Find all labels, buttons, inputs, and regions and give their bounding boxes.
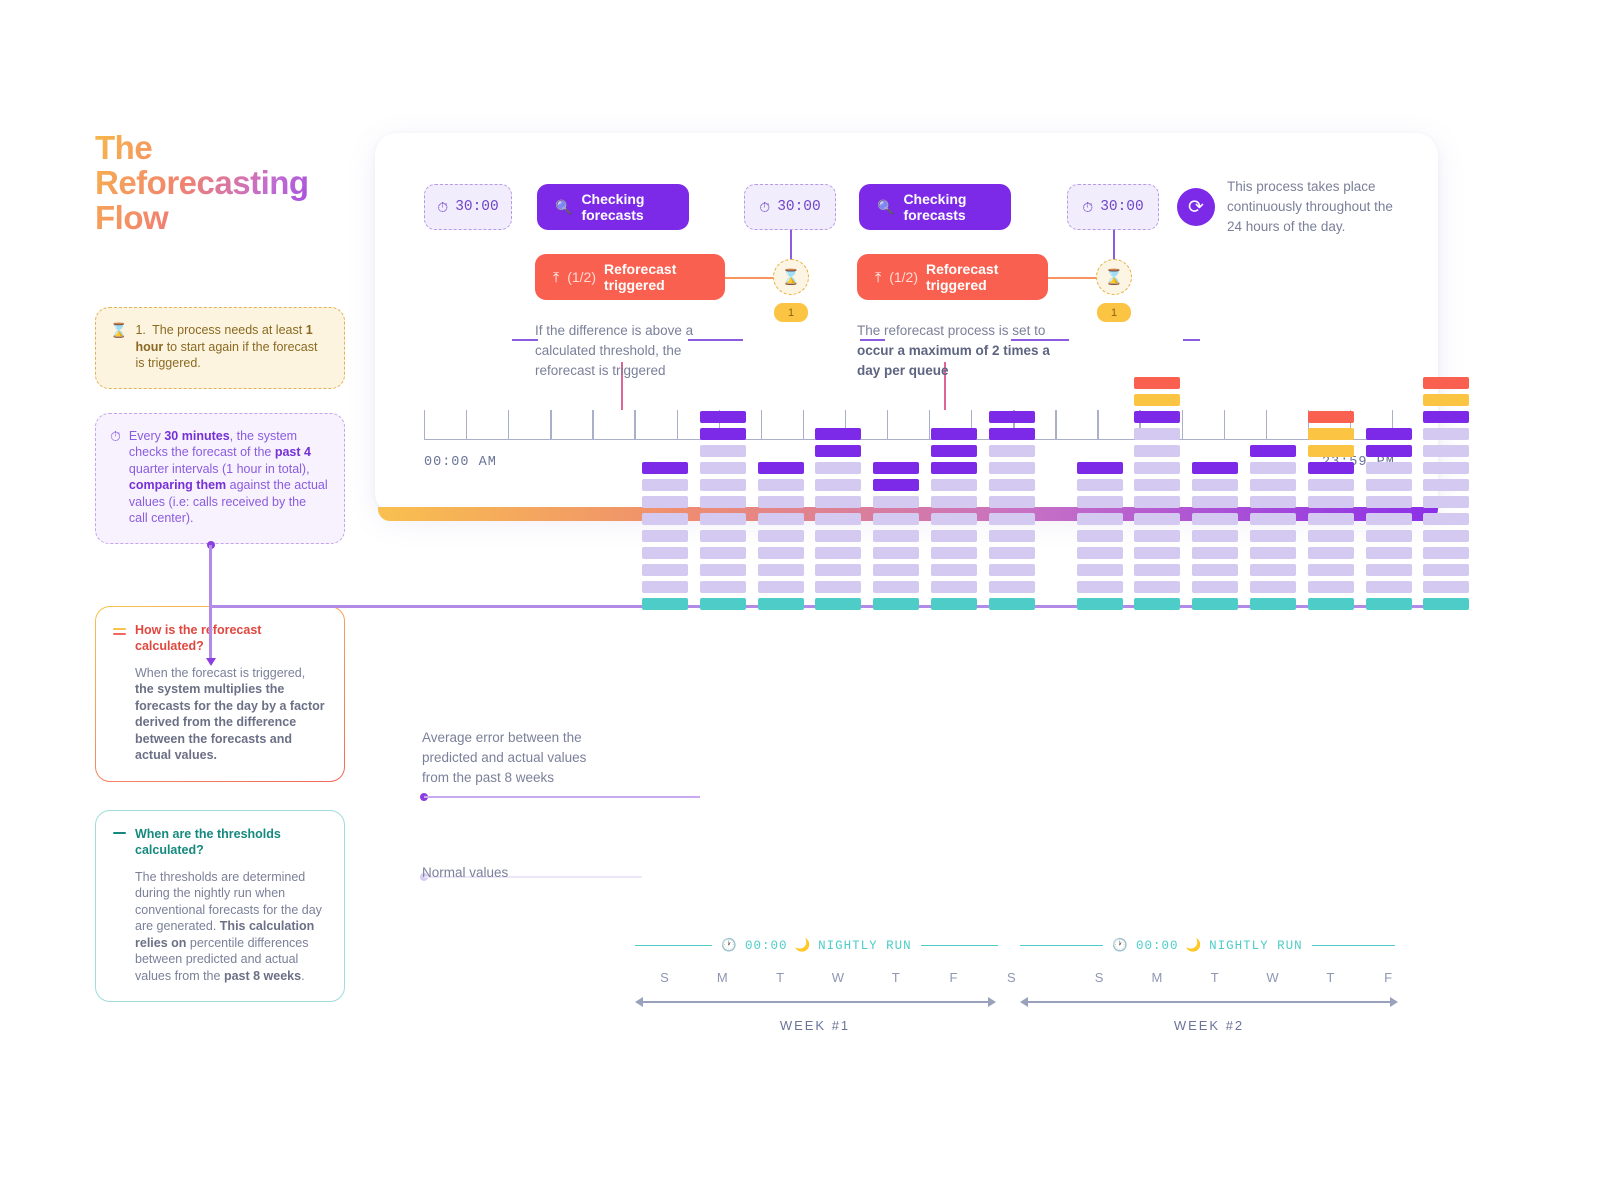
nightly-run-time: 00:00 [1136,939,1179,953]
bar-segment-normal [1077,547,1123,559]
bar-segment-normal [815,462,861,474]
card-heading: How is the reforecast calculated? [113,622,327,654]
left-column: The Reforecasting Flow ⌛ 1. The process … [95,130,345,1002]
edge-timer3-to-refresh [1183,339,1200,341]
bar-segment-normal [1308,479,1354,491]
bar-segment-normal [642,496,688,508]
bar-segment-normal [815,581,861,593]
bar-segment-normal [873,581,919,593]
bar-segment-normal [1192,479,1238,491]
bar-segment-normal [989,564,1035,576]
bar-segment-base [1134,598,1180,610]
stopwatch-icon: ⏱ [1082,199,1093,216]
bar-segment-normal [758,547,804,559]
bar-segment-warn [1423,394,1469,406]
refresh-icon-button[interactable]: ⟳ [1177,188,1215,226]
bar-segment-normal [1366,479,1412,491]
bar-segment-normal [758,479,804,491]
bar-segment-normal [931,530,977,542]
bar-segment-high [815,428,861,440]
bar-segment-normal [989,462,1035,474]
hourglass-icon-2[interactable]: ⌛ [1096,259,1132,295]
bar-segment-normal [700,530,746,542]
q1-p3: . [301,969,304,983]
bar-segment-normal [1308,496,1354,508]
bar-segment-normal [700,462,746,474]
bar-segment-normal [931,513,977,525]
week2-arrow-right [1390,997,1398,1007]
chart-bar[interactable] [1134,372,1180,610]
bar-segment-crit [1308,411,1354,423]
day-label: T [873,970,919,985]
bar-segment-normal [1366,547,1412,559]
bar-segment-normal [700,496,746,508]
bar-segment-normal [1077,581,1123,593]
alert-1-fraction: (1/2) [567,269,596,285]
note-amber-number: 1. [135,323,145,337]
bar-segment-base [873,598,919,610]
node-timer-2[interactable]: ⏱ 30:00 [744,184,836,230]
search-icon: 🔍 [555,199,572,216]
error-chart: Average error between the predicted and … [420,725,1410,1045]
nightly-run-week1: 🕐 00:00 🌙 NIGHTLY RUN [635,938,998,953]
bar-segment-normal [642,513,688,525]
bar-segment-normal [1134,581,1180,593]
nightly-line-left [635,945,712,947]
day-label: M [1134,970,1180,985]
bar-segment-high [1366,428,1412,440]
nv-b2: past 4 [275,445,311,459]
bar-segment-normal [1250,479,1296,491]
bar-segment-warn [1308,445,1354,457]
nv-b3: comparing them [129,478,226,492]
bar-segment-normal [1134,496,1180,508]
bar-segment-high [1366,445,1412,457]
bar-segment-normal [1423,564,1469,576]
day-label: F [931,970,977,985]
bar-segment-normal [1192,513,1238,525]
note-minimum-gap: ⌛ 1. The process needs at least 1 hour t… [95,307,345,389]
bar-segment-normal [1423,445,1469,457]
bar-segment-normal [758,581,804,593]
bar-segment-normal [700,581,746,593]
day-label: W [1250,970,1296,985]
bar-segment-normal [642,547,688,559]
stopwatch-icon: ⏱ [759,199,770,216]
bar-segment-normal [1077,564,1123,576]
day-label: M [700,970,746,985]
bar-segment-base [989,598,1035,610]
bar-segment-high [931,445,977,457]
bar-segment-normal [1308,530,1354,542]
chart-bar[interactable] [1077,457,1123,610]
chart-bar[interactable] [931,423,977,610]
bar-segment-normal [1250,547,1296,559]
hourglass-icon: ⌛ [110,322,127,372]
bar-segment-normal [758,496,804,508]
timer-2-label: 30:00 [777,199,821,215]
bar-segment-normal [1192,547,1238,559]
card-heading-text: How is the reforecast calculated? [135,622,327,654]
week2-axis [1027,1001,1391,1003]
caption2-p1: The reforecast process is set to [857,323,1045,338]
page-title-line2: Reforecasting [95,165,345,200]
ruler-tick [887,410,888,440]
bar-segment-warn [1308,428,1354,440]
week2-arrow-left [1020,997,1028,1007]
node-reforecast-triggered-2[interactable]: ⤒ (1/2) Reforecast triggered [857,254,1048,300]
alert-2-fraction: (1/2) [889,269,918,285]
bar-segment-normal [931,496,977,508]
bar-segment-normal [1308,564,1354,576]
hourglass-badge-2: 1 [1097,303,1131,322]
bar-segment-normal [758,513,804,525]
chart-bar[interactable] [989,406,1035,610]
bar-segment-normal [1250,581,1296,593]
card-body: When the forecast is triggered, the syst… [113,665,327,764]
bar-segment-normal [1250,496,1296,508]
day-label: T [1192,970,1238,985]
day-label: S [989,970,1035,985]
q1-b2: past 8 weeks [224,969,301,983]
bar-segment-normal [700,445,746,457]
note-check-interval: ⏱ Every 30 minutes, the system checks th… [95,413,345,544]
bar-segment-high [989,428,1035,440]
bar-segment-warn [1134,394,1180,406]
bar-segment-normal [1077,479,1123,491]
chart-bar[interactable] [642,457,688,610]
card-when-are-thresholds-calculated: When are the thresholds calculated? The … [95,810,345,1003]
flow-side-note: This process takes place continuously th… [1227,177,1405,237]
bar-segment-normal [642,479,688,491]
bar-segment-normal [1192,564,1238,576]
caption2-b1: occur a maximum of 2 times a day per que… [857,343,1050,378]
chart-bar[interactable] [873,457,919,610]
bar-segment-base [1423,598,1469,610]
timer-1-label: 30:00 [455,199,499,215]
bar-segment-normal [931,564,977,576]
bar-segment-high [873,462,919,474]
bar-segment-normal [989,479,1035,491]
week1-axis [642,1001,989,1003]
nightly-run-content: 🕐 00:00 🌙 NIGHTLY RUN [1112,938,1302,953]
nv-p1: Every [129,429,164,443]
bar-segment-high [1077,462,1123,474]
bar-segment-normal [1250,513,1296,525]
timer-3-label: 30:00 [1100,199,1144,215]
chart-bar[interactable] [1423,372,1469,610]
chart-bar[interactable] [815,423,861,610]
nightly-run-label: NIGHTLY RUN [1209,939,1303,953]
nightly-run-week2: 🕐 00:00 🌙 NIGHTLY RUN [1020,938,1395,953]
bar-segment-crit [1423,377,1469,389]
hourglass-badge-1: 1 [774,303,808,322]
legend-high-leader-line [424,796,700,798]
chart-bar[interactable] [1250,440,1296,610]
bar-segment-normal [1250,462,1296,474]
bar-segment-normal [700,513,746,525]
nv-b1: 30 minutes [164,429,229,443]
q0-p1: When the forecast is triggered, [135,666,305,680]
bar-segment-normal [1423,530,1469,542]
q0-b1: the system multiplies the forecasts for … [135,682,325,762]
ruler-tick [466,410,467,440]
week1-label: WEEK #1 [730,1018,900,1033]
page-title-line1: The [95,130,345,165]
bar-segment-high [700,428,746,440]
card-body: The thresholds are determined during the… [113,869,327,985]
bar-segment-high [642,462,688,474]
bar-segment-base [642,598,688,610]
card-heading-text: When are the thresholds calculated? [135,826,327,858]
flow-caption-threshold: If the difference is above a calculated … [535,321,735,381]
bar-segment-normal [700,479,746,491]
bar-segment-normal [1423,513,1469,525]
bar-segment-normal [815,564,861,576]
ruler-tick [803,410,804,440]
bar-segment-high [815,445,861,457]
page-title-line3: Flow [95,200,345,235]
bar-segment-normal [1366,513,1412,525]
bar-segment-base [1077,598,1123,610]
bar-segment-high [700,411,746,423]
bar-segment-normal [815,496,861,508]
process-2-label: Checking forecasts [903,191,993,223]
node-timer-1[interactable]: ⏱ 30:00 [424,184,512,230]
hourglass-icon-1[interactable]: ⌛ [773,259,809,295]
ruler-tick [592,410,593,440]
bar-segment-high [758,462,804,474]
bar-segment-high [931,428,977,440]
bar-segment-normal [989,581,1035,593]
note-amber-after: to start again if the forecast is trigge… [135,340,317,371]
chart-bar[interactable] [1308,406,1354,610]
search-icon: 🔍 [877,199,894,216]
ruler-baseline [424,439,1392,440]
node-checking-forecasts-1[interactable]: 🔍 Checking forecasts [537,184,689,230]
bar-segment-normal [1366,496,1412,508]
bar-segment-normal [931,547,977,559]
bar-segment-normal [1192,496,1238,508]
bar-segment-normal [1250,530,1296,542]
bar-segment-high [1423,411,1469,423]
day-label: S [1077,970,1123,985]
bar-segment-normal [1308,513,1354,525]
nightly-run-label: NIGHTLY RUN [818,939,912,953]
bar-segment-base [1192,598,1238,610]
nightly-run-time: 00:00 [745,939,788,953]
bar-segment-normal [700,547,746,559]
ruler-tick [1055,410,1056,440]
ruler-tick [1224,410,1225,440]
ruler-tick [1097,410,1098,440]
moon-icon: 🌙 [795,938,812,953]
bar-segment-normal [1366,462,1412,474]
bar-segment-base [815,598,861,610]
day-label: S [642,970,688,985]
bar-segment-base [1366,598,1412,610]
bar-segment-normal [1366,581,1412,593]
bar-segment-normal [758,530,804,542]
bar-segment-normal [931,479,977,491]
connector-arrow-down [206,658,216,666]
alert-1-label: Reforecast triggered [604,261,707,293]
timeline-ruler [424,408,1392,440]
bar-segment-normal [1192,581,1238,593]
bar-segment-normal [1423,581,1469,593]
bar-segment-normal [873,496,919,508]
nightly-line-right [921,945,998,947]
note-amber-text: 1. The process needs at least 1 hour to … [135,322,328,372]
legend-normal-label: Normal values [422,863,622,883]
bar-segment-normal [1423,428,1469,440]
bar-segment-base [758,598,804,610]
chevrons-up-icon: ⤒ [875,269,881,286]
clock-icon: 🕐 [721,938,738,953]
card-how-is-reforecast-calculated: How is the reforecast calculated? When t… [95,606,345,782]
bar-segment-normal [642,564,688,576]
ruler-tick [424,410,425,440]
bar-segment-normal [1308,581,1354,593]
bar-segment-normal [989,530,1035,542]
stopwatch-icon: ⏱ [437,199,448,216]
bar-segment-normal [873,513,919,525]
chart-bar[interactable] [1192,457,1238,610]
bar-segment-normal [1077,530,1123,542]
bar-segment-base [700,598,746,610]
bar-segment-normal [1423,547,1469,559]
bar-segment-high [989,411,1035,423]
bar-segment-normal [931,581,977,593]
node-timer-3[interactable]: ⏱ 30:00 [1067,184,1159,230]
ruler-tick [677,410,678,440]
bar-segment-normal [700,564,746,576]
bar-segment-normal [815,530,861,542]
bar-segment-normal [1134,564,1180,576]
page-title: The Reforecasting Flow [95,130,345,235]
node-reforecast-triggered-1[interactable]: ⤒ (1/2) Reforecast triggered [535,254,725,300]
day-label: T [758,970,804,985]
bar-segment-normal [1308,547,1354,559]
flow-caption-max-per-day: The reforecast process is set to occur a… [857,321,1053,381]
ruler-tick [634,410,635,440]
week2-label: WEEK #2 [1124,1018,1294,1033]
bar-segment-high [1308,462,1354,474]
bar-segment-normal [1423,462,1469,474]
alert-2-label: Reforecast triggered [926,261,1030,293]
bar-segment-normal [989,496,1035,508]
note-amber-before: The process needs at least [152,323,306,337]
bar-segment-normal [1077,513,1123,525]
bar-segment-base [1308,598,1354,610]
double-dash-icon [113,622,126,654]
bar-segment-normal [815,479,861,491]
bar-segment-normal [642,581,688,593]
bar-segment-normal [642,530,688,542]
bar-segment-normal [1192,530,1238,542]
bar-segment-high [873,479,919,491]
bar-segment-normal [1250,564,1296,576]
node-checking-forecasts-2[interactable]: 🔍 Checking forecasts [859,184,1011,230]
nightly-line-left [1020,945,1103,947]
card-heading: When are the thresholds calculated? [113,826,327,858]
bar-segment-normal [815,547,861,559]
bar-segment-normal [1077,496,1123,508]
bar-segment-normal [989,445,1035,457]
ruler-tick [761,410,762,440]
connector-vertical [209,545,212,660]
bar-segment-normal [1134,445,1180,457]
chart-bar[interactable] [700,406,746,610]
bar-segment-normal [873,547,919,559]
day-label: F [1366,970,1412,985]
bar-segment-normal [873,564,919,576]
ruler-tick [550,410,551,440]
ruler-tick [1182,410,1183,440]
note-violet-text: Every 30 minutes, the system checks the … [129,428,328,527]
ruler-tick [508,410,509,440]
ruler-start-label: 00:00 AM [424,455,497,470]
bar-segment-normal [758,564,804,576]
bar-segment-high [931,462,977,474]
bar-segment-base [931,598,977,610]
bar-segment-base [1250,598,1296,610]
bar-segment-high [1192,462,1238,474]
stopwatch-icon: ⏱ [110,428,121,527]
chart-bar[interactable] [1366,423,1412,610]
bar-segment-normal [1134,479,1180,491]
bar-segment-high [1250,445,1296,457]
bar-segment-normal [1134,547,1180,559]
nv-p3: quarter intervals (1 hour in total), [129,462,310,476]
bar-segment-normal [1134,530,1180,542]
day-label: W [815,970,861,985]
bar-segment-normal [1423,496,1469,508]
legend-high-label: Average error between the predicted and … [422,728,602,788]
bar-segment-normal [1134,428,1180,440]
bar-segment-normal [1366,530,1412,542]
bar-segment-normal [1134,462,1180,474]
bar-segment-normal [873,530,919,542]
chevrons-up-icon: ⤒ [553,269,559,286]
bar-segment-normal [1134,513,1180,525]
process-1-label: Checking forecasts [581,191,671,223]
bar-segment-crit [1134,377,1180,389]
nightly-run-content: 🕐 00:00 🌙 NIGHTLY RUN [721,938,911,953]
ruler-tick [1266,410,1267,440]
moon-icon: 🌙 [1186,938,1203,953]
nightly-line-right [1312,945,1395,947]
day-label: T [1308,970,1354,985]
week1-arrow-right [988,997,996,1007]
bar-segment-normal [1366,564,1412,576]
single-dash-icon [113,826,126,858]
bar-segment-normal [989,513,1035,525]
clock-icon: 🕐 [1112,938,1129,953]
chart-bar[interactable] [758,457,804,610]
bar-segment-normal [1423,479,1469,491]
bar-segment-normal [815,513,861,525]
week1-arrow-left [635,997,643,1007]
bar-segment-normal [989,547,1035,559]
bar-segment-high [1134,411,1180,423]
